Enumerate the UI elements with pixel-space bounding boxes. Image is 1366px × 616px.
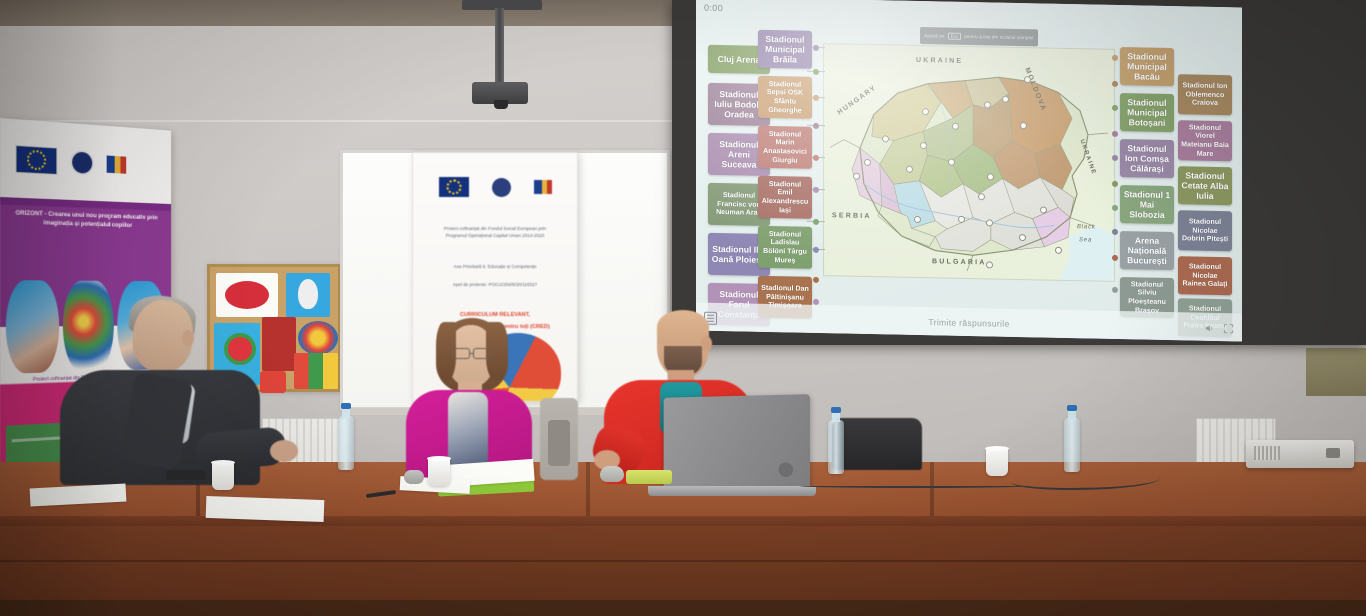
- romania-map[interactable]: UKRAINE HUNGARY MOLDOVA UKRAINE SERBIA B…: [823, 43, 1115, 282]
- map-pin[interactable]: [914, 216, 921, 223]
- water-bottle: [1064, 418, 1080, 472]
- projector-lens: [494, 100, 508, 109]
- submit-answers-label[interactable]: Trimite răspunsurile: [696, 313, 1242, 334]
- map-pin[interactable]: [1055, 247, 1062, 254]
- connector-dot[interactable]: [813, 45, 819, 51]
- connector-dot[interactable]: [1112, 287, 1118, 293]
- map-pin[interactable]: [952, 123, 959, 130]
- fullscreen-hint-prefix: Apasă pe: [924, 33, 944, 38]
- table-panel-seam: [0, 560, 1366, 562]
- map-label-ukraine: UKRAINE: [916, 57, 963, 65]
- chip-baia-mare[interactable]: Stadionul Viorel Mateianu Baia Mare: [1178, 120, 1232, 161]
- map-label-serbia: SERBIA: [832, 212, 872, 220]
- map-pin[interactable]: [1040, 206, 1047, 213]
- wall-seam: [0, 120, 700, 122]
- glasses-left-lens: [452, 348, 470, 359]
- smartphone[interactable]: [626, 470, 672, 484]
- computer-mouse[interactable]: [600, 466, 624, 482]
- pocu-logo-icon: [534, 180, 552, 194]
- chip-craiova[interactable]: Stadionul Ion Oblemenco Craiova: [1178, 74, 1232, 115]
- connector-dot[interactable]: [813, 187, 819, 193]
- map-label-bulgaria: BULGARIA: [932, 258, 987, 266]
- rollup-line4: Apel de proiecte: POCU/254/6/20/118327: [413, 281, 577, 288]
- map-pin[interactable]: [864, 159, 871, 166]
- paper-cup: [428, 458, 450, 486]
- rollup-line2-text: Programul Operațional Capital Uman 2014-…: [446, 233, 545, 238]
- eu-flag-icon: [439, 177, 469, 197]
- chip-targu-mures[interactable]: Stadionul Ladislau Bölöni Târgu Mureș: [758, 226, 812, 269]
- connector-dot[interactable]: [1112, 255, 1118, 261]
- projected-slide: 0:00 Apasă pe Esc pentru a ieși din ecra…: [696, 0, 1242, 341]
- laptop-keyboard-base[interactable]: [648, 486, 816, 496]
- fullscreen-hint-suffix: pentru a ieși din ecranul complet: [964, 34, 1033, 40]
- rollup-line1: Proiect cofinanțat din Fondul Social Eur…: [413, 225, 577, 239]
- poster-logo-row: [0, 118, 171, 204]
- connector-dot[interactable]: [1112, 229, 1118, 235]
- map-pin[interactable]: [984, 101, 991, 108]
- water-bottle: [338, 416, 354, 470]
- chip-iasi[interactable]: Stadionul Emil Alexandrescu Iași: [758, 176, 812, 219]
- artwork-blue-figure: [286, 273, 330, 317]
- connector-dot[interactable]: [813, 277, 819, 283]
- connector-dot[interactable]: [813, 155, 819, 161]
- map-label-black-sea-line1: Black: [1077, 224, 1096, 230]
- chip-calarasi[interactable]: Stadionul Ion Comșa Călărași: [1120, 139, 1174, 178]
- office-chair-center-arm: [548, 420, 570, 466]
- connector-dot[interactable]: [1112, 205, 1118, 211]
- map-pin[interactable]: [958, 216, 965, 223]
- pocu-logo-icon: [107, 155, 127, 173]
- ministry-seal-icon: [492, 178, 511, 197]
- projector-arm: [495, 8, 504, 88]
- fullscreen-hint-tooltip: Apasă pe Esc pentru a ieși din ecranul c…: [920, 27, 1038, 46]
- map-label-black-sea-line2: Sea: [1079, 237, 1092, 243]
- artwork-apple: [216, 273, 278, 317]
- water-bottle: [828, 420, 844, 474]
- map-pin[interactable]: [986, 219, 993, 226]
- artwork-small-red: [260, 371, 286, 393]
- rollup-line1-text: Proiect cofinanțat din Fondul Social Eur…: [444, 226, 546, 231]
- map-pin[interactable]: [882, 135, 889, 142]
- connector-dot[interactable]: [813, 219, 819, 225]
- paper-cup: [986, 448, 1008, 476]
- poster-photo-2: [63, 280, 114, 371]
- chip-alba-iulia[interactable]: Stadionul Cetate Alba Iulia: [1178, 166, 1232, 205]
- eu-flag-icon: [16, 145, 58, 175]
- chip-bucuresti[interactable]: Arena Națională București: [1120, 231, 1174, 270]
- laptop-logo: [778, 462, 793, 477]
- hand: [270, 440, 298, 462]
- map-pin[interactable]: [1019, 234, 1026, 241]
- connector-dot[interactable]: [1112, 155, 1118, 161]
- artwork-circle: [298, 321, 338, 355]
- esc-key-badge: Esc: [948, 33, 962, 40]
- ear: [701, 336, 712, 351]
- connector-dot[interactable]: [1112, 131, 1118, 137]
- rollup-line3: Axa Prioritară 6: Educație și Competențe: [413, 263, 577, 270]
- rollup-logo-row: [413, 177, 577, 197]
- connector-dot[interactable]: [1112, 55, 1118, 61]
- map-pin[interactable]: [922, 108, 929, 115]
- glasses-right-lens: [473, 348, 491, 359]
- map-pin[interactable]: [978, 193, 985, 200]
- wall-mounted-box: [1306, 348, 1366, 396]
- slide-controls: [1204, 323, 1234, 335]
- map-pin[interactable]: [1024, 76, 1031, 83]
- map-pin[interactable]: [1002, 96, 1009, 103]
- poster-title: ORIZONT - Crearea unui nou program educa…: [0, 204, 171, 235]
- map-pin[interactable]: [948, 159, 955, 166]
- projector-lens: [1326, 448, 1340, 458]
- speaker-icon[interactable]: [1204, 323, 1215, 334]
- computer-mouse[interactable]: [404, 470, 424, 484]
- map-pin[interactable]: [987, 173, 994, 180]
- connector-dot[interactable]: [813, 69, 819, 75]
- desk-projector: [1246, 440, 1354, 468]
- chip-slobozia[interactable]: Stadionul 1 Mai Slobozia: [1120, 185, 1174, 224]
- connector-dot[interactable]: [813, 123, 819, 129]
- remote-control[interactable]: [166, 470, 206, 480]
- connector-dot[interactable]: [813, 95, 819, 101]
- room-photo: ORIZONT - Crearea unui nou program educa…: [0, 0, 1366, 616]
- paper-cup: [212, 462, 234, 490]
- chip-sfantu-gheorghe[interactable]: Stadionul Sepsi OSK Sfântu Gheorghe: [758, 76, 812, 119]
- chip-giurgiu[interactable]: Stadionul Marin Anastasovici Giurgiu: [758, 126, 812, 169]
- ear: [182, 330, 194, 346]
- quiz-timer: 0:00: [704, 3, 723, 13]
- glasses-bridge: [470, 353, 474, 354]
- exit-fullscreen-icon[interactable]: [1223, 323, 1234, 334]
- chip-braila[interactable]: Stadionul Municipal Brăila: [758, 30, 812, 69]
- map-pin[interactable]: [986, 261, 993, 268]
- documents: [206, 496, 325, 522]
- chip-botosani[interactable]: Stadionul Municipal Botoșani: [1120, 93, 1174, 132]
- office-chair-right: [832, 418, 922, 470]
- connector-dot[interactable]: [813, 247, 819, 253]
- map-pin[interactable]: [853, 173, 860, 180]
- chip-galati[interactable]: Stadionul Nicolae Rainea Galați: [1178, 256, 1232, 295]
- artwork-stripes: [294, 353, 338, 389]
- rollup-headline1: CURRICULUM RELEVANT,: [413, 311, 577, 320]
- scarf: [448, 392, 488, 470]
- map-pin[interactable]: [920, 142, 927, 149]
- chip-bacau[interactable]: Stadionul Municipal Bacău: [1120, 47, 1174, 86]
- map-pin[interactable]: [1020, 122, 1027, 129]
- projection-screen: 0:00 Apasă pe Esc pentru a ieși din ecra…: [672, 0, 1366, 345]
- government-seal-icon: [70, 149, 94, 175]
- map-pin[interactable]: [906, 166, 913, 173]
- cable: [800, 484, 1030, 488]
- floor: [0, 600, 1366, 616]
- poster-photo-1: [6, 280, 59, 373]
- artwork-red: [262, 317, 296, 371]
- connector-dot[interactable]: [1112, 105, 1118, 111]
- connector-dot[interactable]: [1112, 81, 1118, 87]
- laptop[interactable]: [664, 394, 810, 490]
- connector-dot[interactable]: [1112, 181, 1118, 187]
- chip-pitesti[interactable]: Stadionul Nicolae Dobrin Pitești: [1178, 210, 1232, 251]
